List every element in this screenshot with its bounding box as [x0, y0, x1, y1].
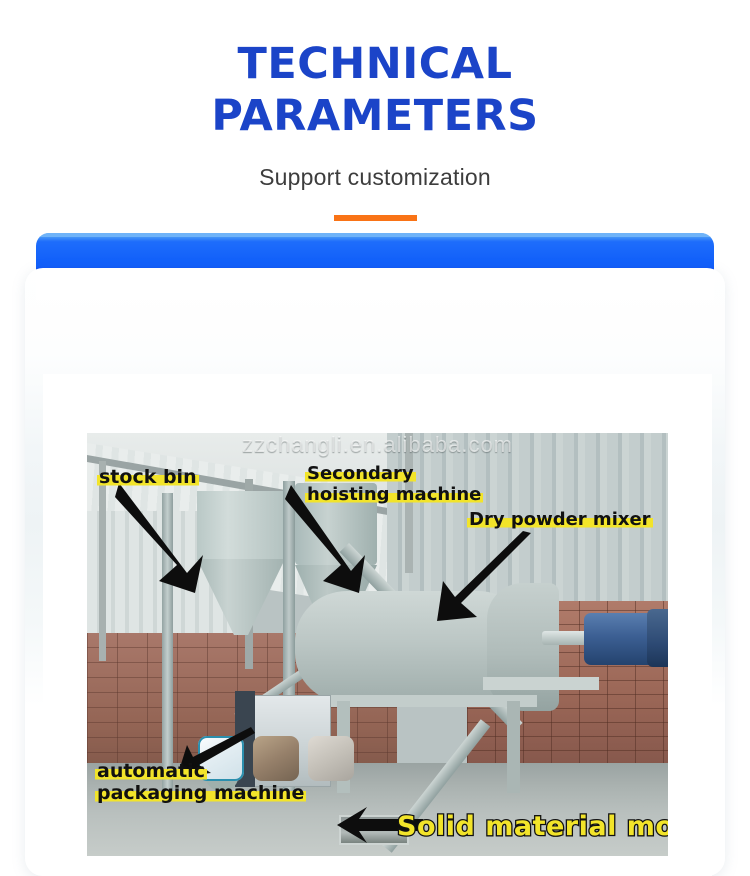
page-title-line2: PARAMETERS	[0, 90, 750, 142]
label-stock-bin: stock bin	[97, 466, 199, 488]
label-secondary-hoisting-machine: Secondary hoisting machine	[305, 463, 483, 505]
motor-platform	[483, 677, 599, 690]
label-secondary-hoisting-line1: Secondary	[305, 463, 416, 484]
page-header: TECHNICAL PARAMETERS Support customizati…	[0, 0, 750, 221]
support-post-1	[99, 461, 106, 661]
label-stock-bin-text: stock bin	[97, 466, 199, 488]
label-secondary-hoisting-line2: hoisting machine	[305, 484, 483, 505]
mixer-gearbox	[647, 609, 668, 667]
label-dry-powder-mixer: Dry powder mixer	[467, 509, 653, 530]
card-top-fade	[36, 268, 714, 320]
product-photo: zzchangli.en.alibaba.com	[87, 433, 668, 856]
mixer-leg-right	[507, 701, 520, 793]
label-automatic-packaging-machine: automatic packaging machine	[95, 760, 306, 805]
page-subtitle: Support customization	[0, 164, 750, 191]
technical-parameters-page: TECHNICAL PARAMETERS Support customizati…	[0, 0, 750, 876]
mixer-drive-shaft	[542, 631, 590, 645]
arrow-to-stock-bin	[115, 481, 215, 596]
alibaba-watermark: zzchangli.en.alibaba.com	[87, 433, 668, 458]
page-title-line1: TECHNICAL	[238, 39, 513, 89]
mixer-base-plate	[327, 695, 537, 707]
label-dry-powder-mixer-text: Dry powder mixer	[467, 509, 653, 530]
sample-swatch-grey	[308, 736, 354, 781]
arrow-to-dry-powder-mixer	[435, 531, 535, 626]
label-solid-material-mouth: Solid material mouth	[397, 811, 668, 842]
page-title: TECHNICAL PARAMETERS	[0, 0, 750, 142]
label-packaging-line1: automatic	[95, 760, 207, 782]
title-underline-rule	[334, 215, 417, 221]
label-packaging-line2: packaging machine	[95, 782, 306, 804]
